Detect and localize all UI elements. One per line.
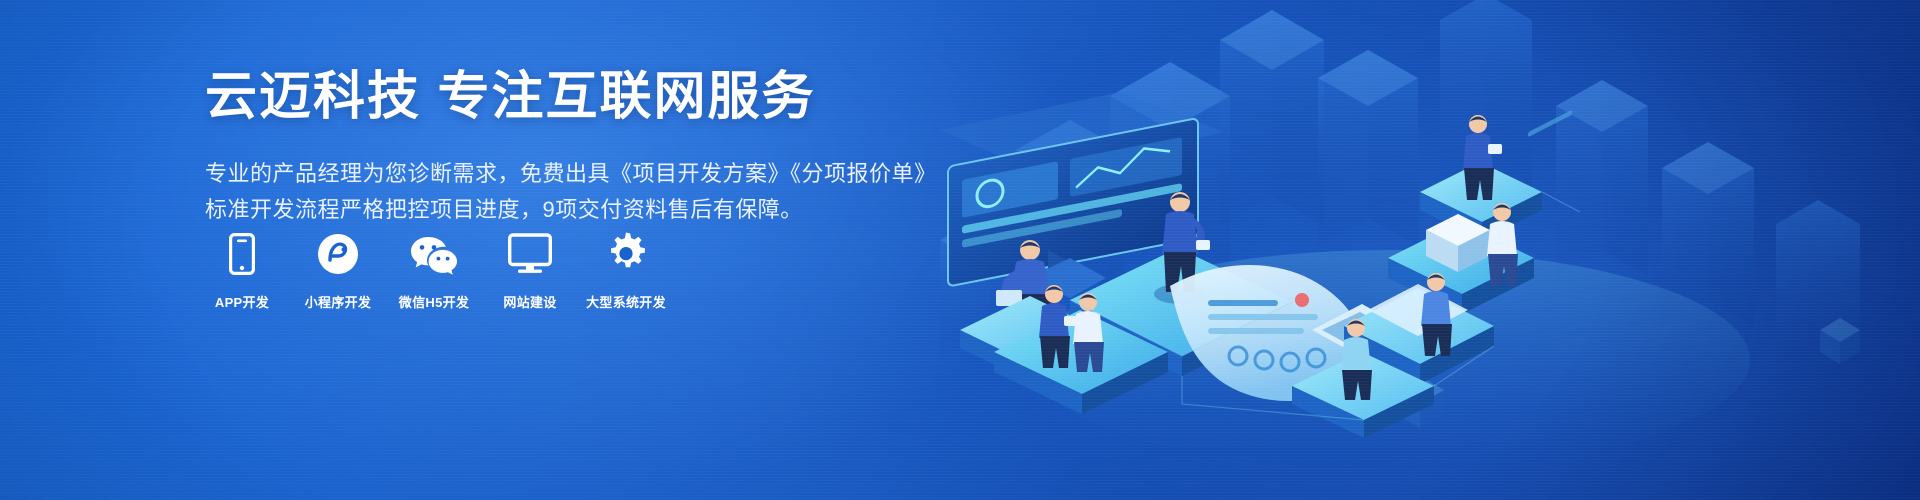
- service-item-website[interactable]: 网站建设: [488, 232, 572, 311]
- person-seated-left: [992, 240, 1060, 340]
- platform-left-small: [960, 296, 1100, 382]
- service-list: APP开发 小程序开发: [200, 232, 668, 311]
- banner-subtitle: 专业的产品经理为您诊断需求，免费出具《项目开发方案》《分项报价单》 标准开发流程…: [205, 156, 965, 229]
- service-item-app[interactable]: APP开发: [200, 232, 284, 311]
- person-right-lower: [1421, 273, 1452, 356]
- service-label-app: APP开发: [215, 292, 269, 311]
- mini-program-icon: [317, 232, 359, 276]
- person-bottom-left-a: [1039, 285, 1078, 368]
- connector-lines: [1070, 192, 1580, 420]
- gear-icon: [604, 232, 648, 276]
- floating-cubes: [1170, 286, 1860, 428]
- person-bottom-right: [1341, 319, 1372, 400]
- banner-headline: 云迈科技 专注互联网服务: [205, 68, 965, 128]
- center-platform: [1070, 192, 1292, 376]
- data-flow-sheet: [1170, 265, 1402, 401]
- person-right-upper: [1463, 115, 1502, 200]
- service-label-large-system: 大型系统开发: [586, 292, 666, 311]
- banner-subtitle-line-2: 标准开发流程严格把控项目进度，9项交付资料售后有保障。: [205, 192, 965, 228]
- person-standing: [1154, 192, 1210, 304]
- platform-bottom-right: [1292, 319, 1434, 438]
- service-label-mini-program: 小程序开发: [305, 292, 372, 311]
- dashboard-screen: [940, 92, 1224, 298]
- monitor-icon: [508, 232, 552, 276]
- person-right-mid: [1487, 203, 1518, 286]
- promo-banner: 云迈科技 专注互联网服务 专业的产品经理为您诊断需求，免费出具《项目开发方案》《…: [0, 0, 1920, 500]
- service-item-mini-program[interactable]: 小程序开发: [296, 232, 380, 311]
- background-buildings: [940, 0, 1860, 364]
- banner-subtitle-line-1: 专业的产品经理为您诊断需求，免费出具《项目开发方案》《分项报价单》: [205, 156, 965, 192]
- service-label-website: 网站建设: [503, 292, 556, 311]
- platform-bottom-left: [994, 285, 1168, 414]
- service-item-large-system[interactable]: 大型系统开发: [584, 232, 668, 311]
- service-label-wechat-h5: 微信H5开发: [399, 292, 469, 311]
- hero-illustration: [920, 0, 1920, 500]
- mobile-phone-icon: [229, 232, 255, 276]
- service-item-wechat-h5[interactable]: 微信H5开发: [392, 232, 476, 311]
- platform-right-mid: [1388, 203, 1534, 314]
- wechat-icon: [410, 232, 458, 276]
- person-bottom-left-b: [1073, 293, 1104, 372]
- banner-content: 云迈科技 专注互联网服务 专业的产品经理为您诊断需求，免费出具《项目开发方案》《…: [205, 68, 965, 228]
- platform-right-upper: [1420, 115, 1542, 240]
- platform-right-lower: [1344, 110, 1572, 384]
